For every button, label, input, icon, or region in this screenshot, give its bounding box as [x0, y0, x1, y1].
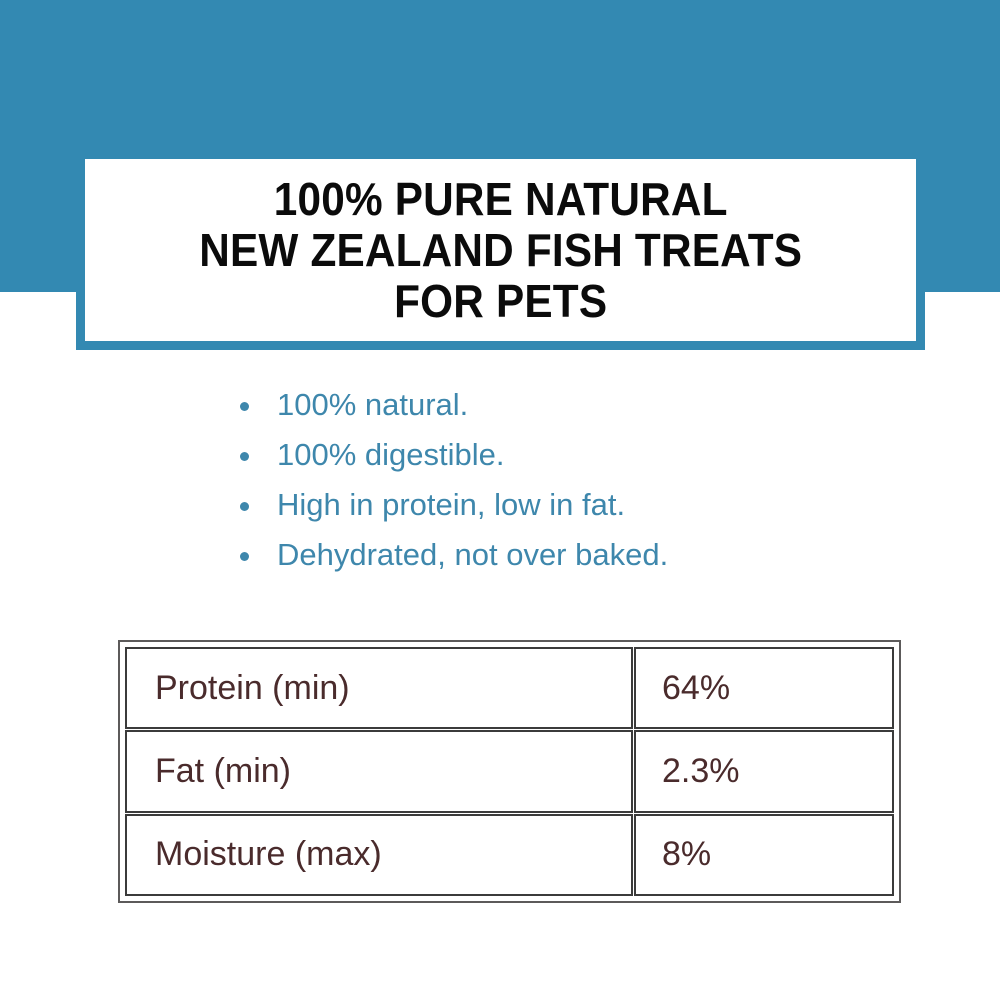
nutrient-label: Moisture (max)	[125, 814, 633, 896]
list-item: 100% digestible.	[232, 430, 932, 480]
feature-label: 100% digestible.	[277, 437, 505, 472]
header-card: 100% PURE NATURAL NEW ZEALAND FISH TREAT…	[85, 159, 916, 341]
nutrient-value: 64%	[634, 647, 894, 729]
page-title: 100% PURE NATURAL NEW ZEALAND FISH TREAT…	[190, 174, 811, 327]
bullet-icon	[240, 552, 249, 561]
list-item: 100% natural.	[232, 380, 932, 430]
feature-label: 100% natural.	[277, 387, 468, 422]
nutrient-label: Fat (min)	[125, 730, 633, 812]
table-row: Protein (min) 64%	[125, 647, 894, 729]
feature-list: 100% natural. 100% digestible. High in p…	[232, 380, 932, 580]
table-row: Fat (min) 2.3%	[125, 730, 894, 812]
bullet-icon	[240, 452, 249, 461]
nutrient-label: Protein (min)	[125, 647, 633, 729]
nutrient-value: 8%	[634, 814, 894, 896]
list-item: Dehydrated, not over baked.	[232, 530, 932, 580]
guaranteed-analysis-table: Protein (min) 64% Fat (min) 2.3% Moistur…	[118, 640, 901, 903]
feature-label: High in protein, low in fat.	[277, 487, 625, 522]
list-item: High in protein, low in fat.	[232, 480, 932, 530]
analysis-table: Protein (min) 64% Fat (min) 2.3% Moistur…	[124, 646, 895, 897]
bullet-icon	[240, 502, 249, 511]
feature-label: Dehydrated, not over baked.	[277, 537, 668, 572]
product-info-graphic: 100% PURE NATURAL NEW ZEALAND FISH TREAT…	[0, 0, 1000, 1000]
nutrient-value: 2.3%	[634, 730, 894, 812]
bullet-icon	[240, 402, 249, 411]
table-row: Moisture (max) 8%	[125, 814, 894, 896]
